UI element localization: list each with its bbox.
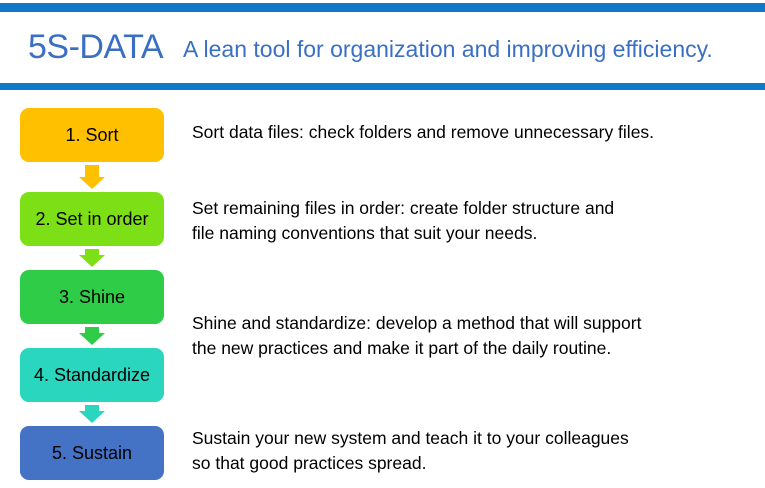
description-line: the new practices and make it part of th… [192,336,752,361]
description-line: Sort data files: check folders and remov… [192,120,752,145]
step-description-4: Sustain your new system and teach it to … [192,426,752,476]
step-connector [20,162,164,192]
description-line: Set remaining files in order: create fol… [192,196,752,221]
header-title-group: 5S-DATA A lean tool for organization and… [0,12,765,83]
description-line: so that good practices spread. [192,451,752,476]
step-label: 2. Set in order [35,209,148,230]
page-header: 5S-DATA A lean tool for organization and… [0,0,765,92]
step-connector [20,246,164,270]
step-box-5[interactable]: 5. Sustain [20,426,164,480]
arrow-down-icon [79,327,105,345]
flow-step: 4. Standardize [20,348,164,426]
arrow-down-icon [79,405,105,423]
page-title: 5S-DATA [28,28,163,67]
step-label: 5. Sustain [52,443,132,464]
step-description-3: Shine and standardize: develop a method … [192,311,752,361]
step-description-2: Set remaining files in order: create fol… [192,196,752,246]
arrow-down-icon [79,165,105,189]
step-box-2[interactable]: 2. Set in order [20,192,164,246]
page-subtitle: A lean tool for organization and improvi… [183,36,713,63]
header-top-rule [0,3,765,12]
description-line: Shine and standardize: develop a method … [192,311,752,336]
step-box-1[interactable]: 1. Sort [20,108,164,162]
five-s-flow-column: 1. Sort2. Set in order3. Shine4. Standar… [20,108,164,480]
description-line: Sustain your new system and teach it to … [192,426,752,451]
step-box-3[interactable]: 3. Shine [20,270,164,324]
flow-step: 5. Sustain [20,426,164,480]
arrow-down-icon [79,249,105,267]
description-line: file naming conventions that suit your n… [192,221,752,246]
step-connector [20,324,164,348]
step-box-4[interactable]: 4. Standardize [20,348,164,402]
step-description-1: Sort data files: check folders and remov… [192,120,752,145]
step-connector [20,402,164,426]
step-label: 1. Sort [65,125,118,146]
flow-step: 1. Sort [20,108,164,192]
step-label: 3. Shine [59,287,125,308]
flow-step: 2. Set in order [20,192,164,270]
header-bottom-rule [0,83,765,90]
flow-step: 3. Shine [20,270,164,348]
step-label: 4. Standardize [34,365,150,386]
